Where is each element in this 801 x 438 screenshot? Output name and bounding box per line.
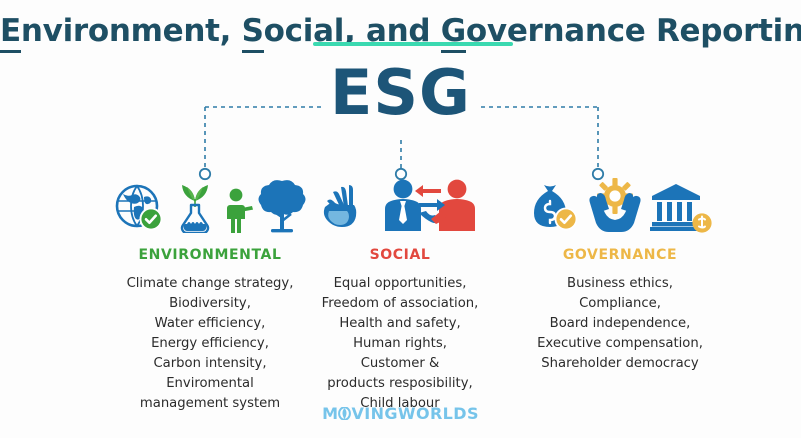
pillar-social-item: Freedom of association, [281,294,519,314]
title-accent-bar [313,42,513,46]
pillar-governance-item: Board independence, [500,314,740,334]
title-segment-4: G [441,13,466,53]
pillar-social-item: Customer & [281,354,519,374]
handshake-exchange-icon [381,177,479,238]
helping-hands-icon [321,181,377,238]
title-segment-0: E [0,13,21,53]
title-segment-5: overnance Reporting [466,13,801,49]
leaf-globe-icon [338,407,351,420]
pillar-social-item: Equal opportunities, [281,274,519,294]
flask-plant-icon [170,175,220,238]
pillar-governance-item: Business ethics, [500,274,740,294]
bank-coin-icon [650,181,712,238]
pillar-governance-item: Compliance, [500,294,740,314]
money-bag-check-icon [528,181,580,238]
title-segment-1: nvironment, [21,13,242,49]
pillar-social-list: Equal opportunities,Freedom of associati… [281,274,519,414]
pillar-social-item: Human rights, [281,334,519,354]
brand-suffix: VINGWORLDS [351,404,478,423]
pillar-social-label: SOCIAL [281,247,519,263]
esg-infographic-slide: Environment, Social, and Governance Repo… [0,0,801,438]
pillar-governance-item: Executive compensation, [500,334,740,354]
esg-acronym: ESG [0,62,801,124]
pillar-governance: GOVERNANCE Business ethics,Compliance,Bo… [500,176,740,374]
pillar-social-item: products resposibility, [281,374,519,394]
hands-gear-icon [584,175,646,238]
pillar-social: SOCIAL Equal opportunities,Freedom of as… [281,176,519,414]
brand-prefix: M [322,404,338,423]
pillar-governance-list: Business ethics,Compliance,Board indepen… [500,274,740,374]
person-icon [224,187,254,238]
pillar-governance-item: Shareholder democracy [500,354,740,374]
pillar-governance-icons [500,176,740,238]
pillar-social-item: Health and safety, [281,314,519,334]
pillar-governance-label: GOVERNANCE [500,247,740,263]
globe-check-icon [114,183,166,238]
pillar-social-icons [281,176,519,238]
movingworlds-logo: M VINGWORLDS [0,404,801,423]
title-segment-2: S [242,13,264,53]
